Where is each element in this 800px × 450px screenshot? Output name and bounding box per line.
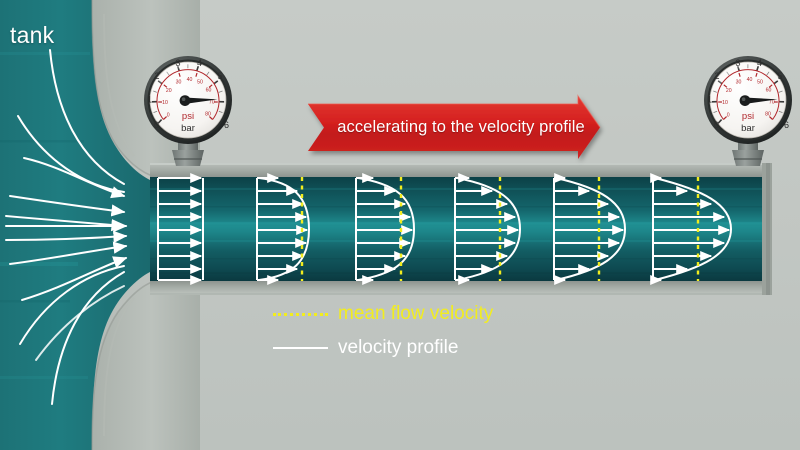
- svg-text:5: 5: [217, 71, 222, 81]
- svg-text:30: 30: [176, 80, 182, 86]
- legend-item-velocity-profile: velocity profile: [273, 334, 493, 362]
- legend-label-velocity-profile: velocity profile: [338, 337, 458, 359]
- svg-text:0: 0: [167, 113, 170, 119]
- svg-text:80: 80: [765, 112, 771, 118]
- svg-text:10: 10: [162, 100, 168, 106]
- svg-text:4: 4: [197, 58, 202, 68]
- svg-text:0: 0: [714, 120, 719, 130]
- svg-text:4: 4: [757, 58, 762, 68]
- legend-label-mean-flow-velocity: mean flow velocity: [338, 303, 493, 325]
- legend-item-mean-flow-velocity: mean flow velocity: [273, 300, 493, 328]
- svg-text:40: 40: [747, 77, 753, 83]
- svg-text:40: 40: [187, 77, 193, 83]
- gauge-unit-psi: psi: [182, 111, 194, 122]
- svg-text:60: 60: [766, 88, 772, 94]
- inlet-pressure-gauge[interactable]: 0 1 2 3 4 5 6 0 10 20: [138, 52, 238, 170]
- svg-text:20: 20: [166, 88, 172, 94]
- gauge-unit-bar: bar: [741, 123, 755, 134]
- gauge-unit-psi: psi: [742, 111, 754, 122]
- mean-flow-velocity-line-icon: [273, 313, 328, 316]
- legend: mean flow velocity velocity profile: [273, 300, 493, 362]
- svg-text:6: 6: [784, 120, 789, 130]
- svg-text:30: 30: [736, 80, 742, 86]
- svg-text:0: 0: [727, 113, 730, 119]
- svg-text:1: 1: [147, 95, 152, 105]
- pipe-flow-scene: [0, 0, 800, 450]
- outlet-pressure-gauge[interactable]: 0 1 2 3 4 5 6 0 10 20: [698, 52, 798, 170]
- svg-text:80: 80: [205, 112, 211, 118]
- svg-text:60: 60: [206, 88, 212, 94]
- diagram-canvas: accelerating to the velocity profile: [0, 0, 800, 450]
- velocity-profile-line-icon: [273, 347, 328, 349]
- svg-text:2: 2: [154, 71, 159, 81]
- gauge-unit-bar: bar: [181, 123, 195, 134]
- svg-text:1: 1: [707, 95, 712, 105]
- svg-text:10: 10: [722, 100, 728, 106]
- svg-text:5: 5: [777, 71, 782, 81]
- svg-text:50: 50: [757, 80, 763, 86]
- svg-text:20: 20: [726, 88, 732, 94]
- banner-label: accelerating to the velocity profile: [308, 104, 600, 151]
- svg-text:0: 0: [154, 120, 159, 130]
- tank-label: tank: [10, 22, 54, 48]
- svg-text:50: 50: [197, 80, 203, 86]
- svg-text:2: 2: [714, 71, 719, 81]
- banner: accelerating to the velocity profile: [308, 104, 600, 151]
- svg-text:6: 6: [224, 120, 229, 130]
